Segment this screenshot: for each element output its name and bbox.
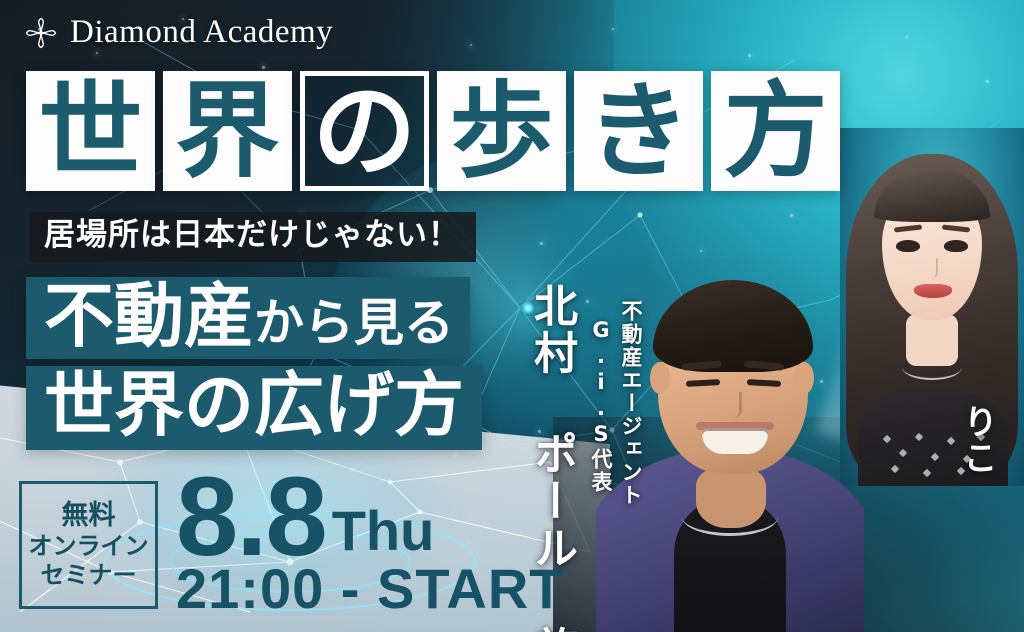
event-start-time: 21:00 - START (176, 561, 564, 617)
headline-band-2-big: 世界の広げ方 (44, 370, 464, 440)
subheadline-text: 居場所は日本だけじゃない！ (44, 217, 460, 253)
title-char-box: の (300, 71, 429, 191)
headline-band-1: 不動産 から見る (26, 277, 470, 359)
necklace-shape (902, 354, 962, 380)
title-char-box: 歩 (437, 71, 566, 191)
event-date: 8.8 (176, 468, 326, 567)
speaker-name: 北村 ポール 啓太郎 (519, 283, 583, 632)
headline-band-1-big: 不動産 (44, 281, 254, 351)
free-badge-line-3: セミナー (41, 562, 137, 589)
headline-band-1-small: から見る (254, 298, 454, 348)
event-weekday: Thu (332, 503, 435, 559)
free-seminar-badge: 無料 オンライン セミナー (19, 481, 158, 609)
eye-left (896, 240, 920, 252)
free-badge-line-1: 無料 (62, 501, 116, 531)
speaker-name-riko: りこ (953, 404, 1002, 476)
nose-shape (928, 258, 938, 278)
smile-teeth-shape (702, 428, 768, 454)
speaker-company: G.i.S代表 (586, 318, 616, 494)
title-char-box: 世 (26, 71, 155, 191)
nose-shape (726, 392, 742, 418)
chain-necklace-shape (682, 498, 778, 536)
speaker-role: 不動産エージェント (616, 300, 646, 507)
seminar-banner: Diamond Academy 世 界 の 歩 き 方 居場所は日本だけじゃない… (0, 0, 1024, 632)
event-date-row: 8.8 Thu (176, 468, 564, 567)
title-char-box: 界 (163, 71, 292, 191)
ear-left (650, 362, 670, 394)
quatrefoil-flower-icon (24, 16, 58, 50)
event-datetime: 8.8 Thu 21:00 - START (176, 468, 564, 617)
free-badge-line-2: オンライン (29, 533, 149, 560)
subheadline-band: 居場所は日本だけじゃない！ (30, 212, 476, 262)
ear-right (794, 362, 814, 394)
title-char-box: 方 (711, 71, 840, 191)
lips-shape (914, 284, 952, 298)
brand-name: Diamond Academy (70, 14, 333, 51)
title-char-box: き (574, 71, 703, 191)
eye-right (944, 240, 968, 252)
headline-band-2: 世界の広げ方 (26, 366, 482, 450)
brand-logo[interactable]: Diamond Academy (24, 14, 333, 51)
main-title: 世 界 の 歩 き 方 (26, 71, 840, 191)
